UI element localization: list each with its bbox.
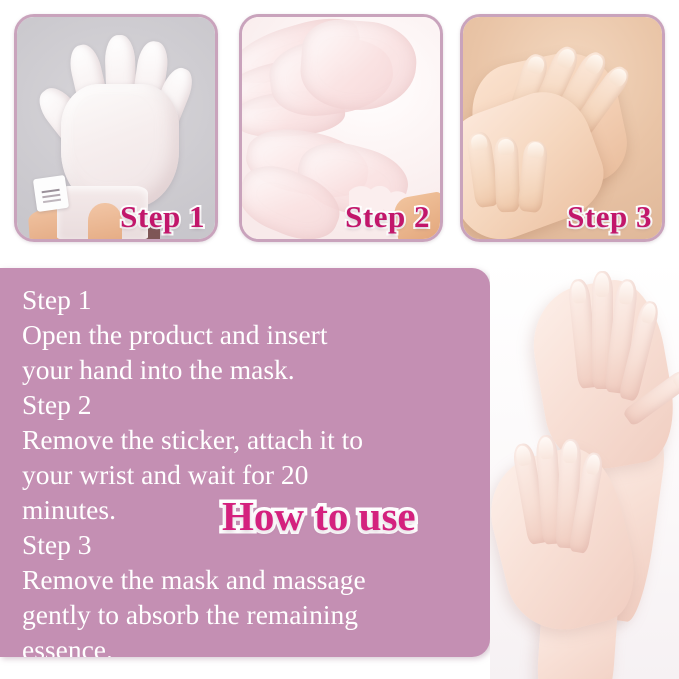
step-cards-row: Step 1 Step 2 Step bbox=[0, 0, 679, 256]
fingernail-shape bbox=[525, 53, 546, 75]
fingernail-shape bbox=[497, 138, 514, 155]
glove-label-tag bbox=[33, 175, 69, 212]
instructions-text-block: Step 1 Open the product and insert your … bbox=[22, 282, 474, 657]
fingernail-shape bbox=[571, 281, 587, 304]
step-badge-3: Step 3 bbox=[567, 199, 652, 235]
fingernail-shape bbox=[526, 142, 544, 159]
instruction-line: gently to absorb the remaining bbox=[22, 597, 474, 632]
instruction-line: essence. bbox=[22, 632, 474, 657]
step-card-2: Step 2 bbox=[239, 14, 443, 242]
pale-hands-photo bbox=[490, 258, 679, 679]
instructions-panel: Step 1 Open the product and insert your … bbox=[0, 268, 490, 657]
how-to-use-headline: How to use bbox=[222, 492, 416, 540]
instruction-line: Remove the mask and massage bbox=[22, 562, 474, 597]
instruction-line: Open the product and insert bbox=[22, 317, 474, 352]
glove-sheet-fold bbox=[298, 18, 419, 115]
fingernail-shape bbox=[618, 281, 635, 305]
step-card-3: Step 3 bbox=[460, 14, 665, 242]
instruction-line: Remove the sticker, attach it to bbox=[22, 422, 474, 457]
fingernail-shape bbox=[640, 302, 657, 325]
fingernail-shape bbox=[539, 437, 555, 460]
thumbnail-shape bbox=[672, 370, 679, 389]
instruction-line: your wrist and wait for 20 bbox=[22, 457, 474, 492]
fingernail-shape bbox=[607, 66, 630, 89]
fingernail-shape bbox=[470, 133, 489, 152]
fingernail-shape bbox=[554, 46, 577, 71]
instruction-line: Step 2 bbox=[22, 387, 474, 422]
instruction-line: your hand into the mask. bbox=[22, 352, 474, 387]
instruction-line: Step 1 bbox=[22, 282, 474, 317]
fingernail-shape bbox=[563, 441, 578, 464]
finger-shape bbox=[494, 136, 520, 212]
fingernail-shape bbox=[585, 453, 601, 475]
fingernail-shape bbox=[515, 445, 532, 467]
step-badge-2: Step 2 bbox=[345, 199, 430, 235]
step-card-1: Step 1 bbox=[14, 14, 218, 242]
touching-finger-shape bbox=[88, 203, 122, 239]
step-badge-1: Step 1 bbox=[120, 199, 205, 235]
fingernail-shape bbox=[595, 273, 609, 297]
